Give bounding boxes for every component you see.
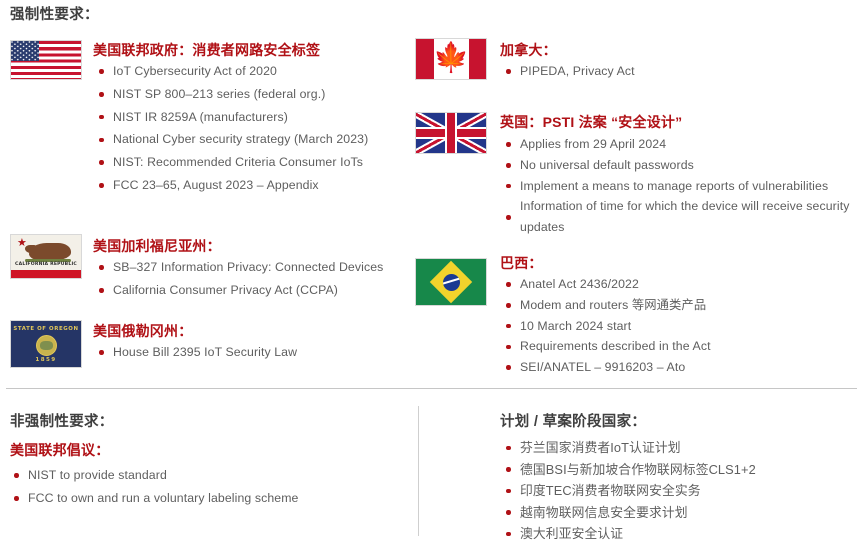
brazil-title: 巴西： [500,253,543,273]
us-federal-initiative-title: 美国联邦倡议： [10,440,109,460]
canada-flag-left-bar [416,39,434,79]
oregon-flag-top-text: STATE OF OREGON [11,326,81,332]
list-item: FCC to own and run a voluntary labeling … [12,487,372,510]
uk-flag-cross-vertical [445,113,457,153]
list-item: NIST IR 8259A (manufacturers) [97,106,417,129]
uk-flag [415,112,487,154]
horizontal-divider [6,388,857,389]
list-item: NIST SP 800–213 series (federal org.) [97,83,417,106]
oregon-seal-icon [36,335,57,356]
us-flag [10,40,82,80]
us-flag-canton [11,41,39,61]
list-item: Requirements described in the Act [504,336,844,357]
brazil-flag-globe [443,274,460,291]
list-item: Modem and routers 等网通类产品 [504,295,844,316]
planned-section-title: 计划 / 草案阶段国家： [500,410,646,431]
non-mandatory-section-title: 非强制性要求： [10,410,114,431]
uk-bullets: Applies from 29 April 2024 No universal … [504,134,856,238]
oregon-title: 美国俄勒冈州： [93,321,192,341]
non-mandatory-bullets: NIST to provide standard FCC to own and … [12,464,372,510]
list-item: California Consumer Privacy Act (CCPA) [97,279,417,302]
list-item: NIST to provide standard [12,464,372,487]
brazil-bullets: Anatel Act 2436/2022 Modem and routers 等… [504,274,844,378]
list-item: National Cyber security strategy (March … [97,128,417,151]
slide-root: 强制性要求： 美国联邦政府：消费者网路安全标签 IoT Cybersecurit… [0,0,863,542]
list-item: No universal default passwords [504,155,856,176]
brazil-flag [415,258,487,306]
list-item: 印度TEC消费者物联网安全实务 [504,480,854,502]
us-federal-bullets: IoT Cybersecurity Act of 2020 NIST SP 80… [97,60,417,197]
list-item: 越南物联网信息安全要求计划 [504,502,854,524]
list-item: PIPEDA, Privacy Act [504,60,844,83]
california-bullets: SB–327 Information Privacy: Connected De… [97,256,417,302]
oregon-flag: STATE OF OREGON 1859 [10,320,82,368]
vertical-divider [418,406,419,536]
list-item: NIST: Recommended Criteria Consumer IoTs [97,151,417,174]
us-federal-title: 美国联邦政府：消费者网路安全标签 [93,40,320,60]
list-item: 10 March 2024 start [504,316,844,337]
oregon-flag-year: 1859 [11,357,81,363]
oregon-bullets: House Bill 2395 IoT Security Law [97,341,417,364]
us-flag-stars [11,41,39,61]
uk-title: 英国：PSTI 法案 “安全设计” [500,112,682,132]
california-title: 美国加利福尼亚州： [93,236,221,256]
list-item: SEI/ANATEL – 9916203 – Ato [504,357,844,378]
list-item: FCC 23–65, August 2023 – Appendix [97,174,417,197]
canada-title: 加拿大： [500,40,557,60]
california-flag-text: CALIFORNIA REPUBLIC [11,262,81,267]
list-item: House Bill 2395 IoT Security Law [97,341,417,364]
list-item: 芬兰国家消费者IoT认证计划 [504,437,854,459]
california-flag: ★ CALIFORNIA REPUBLIC [10,234,82,279]
california-bear-icon [29,243,71,260]
list-item: 德国BSI与新加坡合作物联网标签CLS1+2 [504,459,854,481]
canada-flag-right-bar [469,39,487,79]
list-item: Implement a means to manage reports of v… [504,176,856,197]
mandatory-section-title: 强制性要求： [10,3,99,24]
canada-bullets: PIPEDA, Privacy Act [504,60,844,83]
list-item: Anatel Act 2436/2022 [504,274,844,295]
list-item: Information of time for which the device… [504,196,856,238]
maple-leaf-icon: 🍁 [433,44,469,73]
canada-flag: 🍁 [415,38,487,80]
list-item: IoT Cybersecurity Act of 2020 [97,60,417,83]
list-item: SB–327 Information Privacy: Connected De… [97,256,417,279]
planned-bullets: 芬兰国家消费者IoT认证计划 德国BSI与新加坡合作物联网标签CLS1+2 印度… [504,437,854,545]
california-red-bar [11,270,81,278]
list-item: Applies from 29 April 2024 [504,134,856,155]
